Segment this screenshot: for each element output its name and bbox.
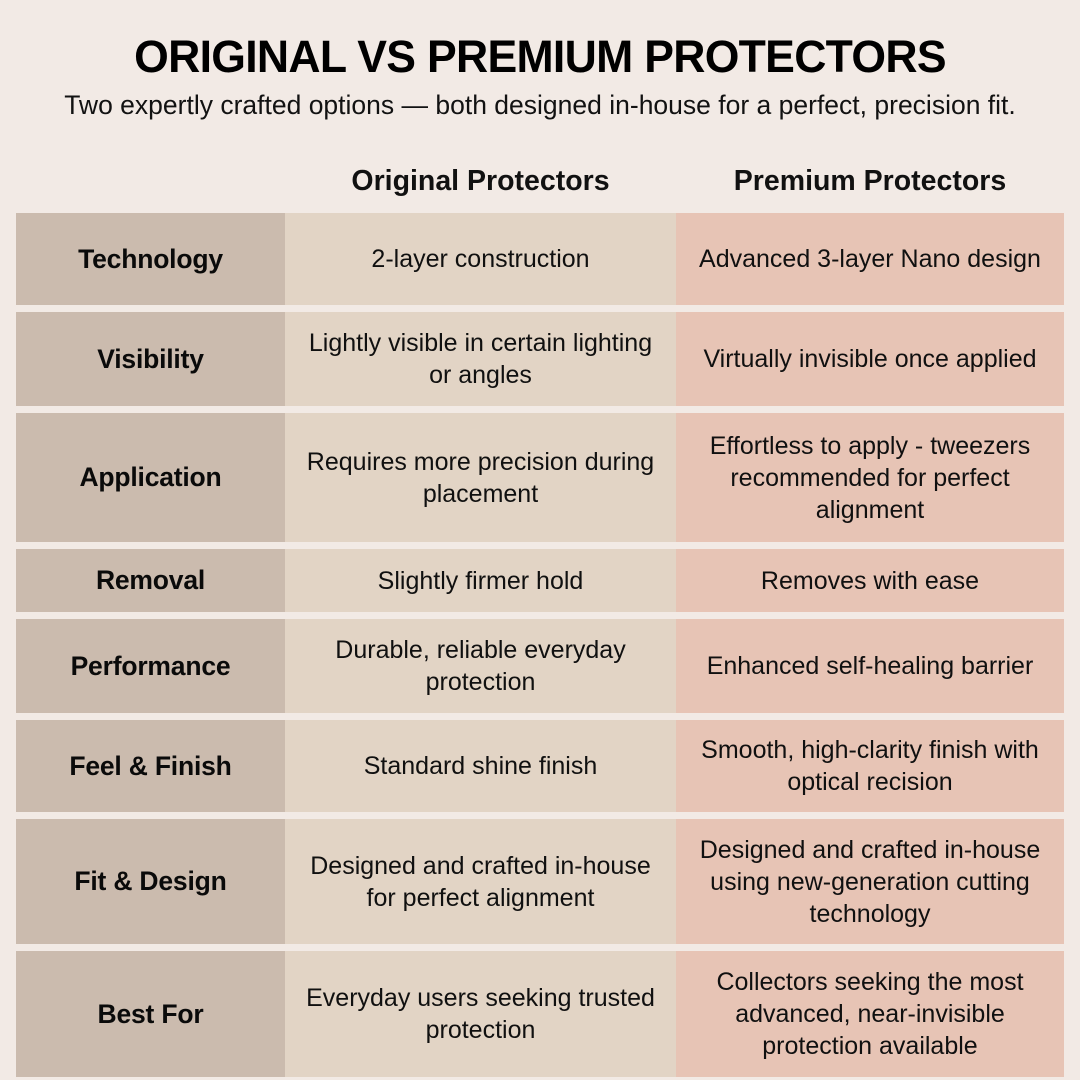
- row-feature-label: Feel & Finish: [16, 720, 285, 812]
- column-header-original: Original Protectors: [285, 166, 676, 197]
- row-feature-label: Visibility: [16, 312, 285, 406]
- column-header-premium: Premium Protectors: [676, 166, 1064, 197]
- table-row: Feel & Finish Standard shine finish Smoo…: [16, 720, 1064, 812]
- row-premium-value: Smooth, high-clarity finish with optical…: [676, 720, 1064, 812]
- row-original-value: Standard shine finish: [285, 720, 676, 812]
- page-subtitle: Two expertly crafted options — both desi…: [60, 89, 1020, 122]
- row-feature-label: Performance: [16, 619, 285, 713]
- row-premium-value: Advanced 3-layer Nano design: [676, 213, 1064, 305]
- row-premium-value: Effortless to apply - tweezers recommend…: [676, 413, 1064, 542]
- row-feature-label: Removal: [16, 549, 285, 612]
- table-row: Performance Durable, reliable everyday p…: [16, 619, 1064, 713]
- row-premium-value: Virtually invisible once applied: [676, 312, 1064, 406]
- row-original-value: 2-layer construction: [285, 213, 676, 305]
- row-original-value: Requires more precision during placement: [285, 413, 676, 542]
- column-header-feature-spacer: [16, 166, 285, 197]
- table-row: Technology 2-layer construction Advanced…: [16, 213, 1064, 305]
- header: ORIGINAL VS PREMIUM PROTECTORS Two exper…: [0, 0, 1080, 122]
- table-row: Application Requires more precision duri…: [16, 413, 1064, 542]
- table-row: Visibility Lightly visible in certain li…: [16, 312, 1064, 406]
- row-feature-label: Best For: [16, 951, 285, 1077]
- page-title: ORIGINAL VS PREMIUM PROTECTORS: [31, 34, 1049, 79]
- table-row: Best For Everyday users seeking trusted …: [16, 951, 1064, 1077]
- table-row: Fit & Design Designed and crafted in-hou…: [16, 819, 1064, 944]
- row-feature-label: Application: [16, 413, 285, 542]
- comparison-infographic: ORIGINAL VS PREMIUM PROTECTORS Two exper…: [0, 0, 1080, 1080]
- comparison-table: Original Protectors Premium Protectors T…: [16, 213, 1064, 1077]
- table-row: Removal Slightly firmer hold Removes wit…: [16, 549, 1064, 612]
- row-premium-value: Designed and crafted in-house using new-…: [676, 819, 1064, 944]
- row-original-value: Designed and crafted in-house for perfec…: [285, 819, 676, 944]
- row-original-value: Everyday users seeking trusted protectio…: [285, 951, 676, 1077]
- row-premium-value: Collectors seeking the most advanced, ne…: [676, 951, 1064, 1077]
- table-column-headers: Original Protectors Premium Protectors: [16, 166, 1064, 197]
- row-original-value: Lightly visible in certain lighting or a…: [285, 312, 676, 406]
- row-premium-value: Removes with ease: [676, 549, 1064, 612]
- row-premium-value: Enhanced self-healing barrier: [676, 619, 1064, 713]
- row-original-value: Slightly firmer hold: [285, 549, 676, 612]
- row-feature-label: Technology: [16, 213, 285, 305]
- row-original-value: Durable, reliable everyday protection: [285, 619, 676, 713]
- row-feature-label: Fit & Design: [16, 819, 285, 944]
